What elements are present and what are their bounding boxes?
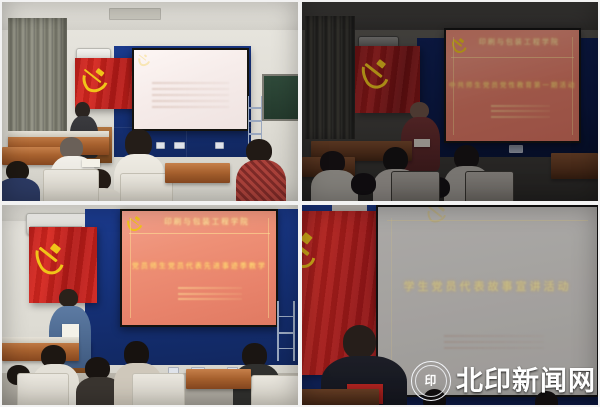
chalkboard (262, 74, 298, 122)
collage-panel-top-left (2, 2, 298, 201)
projection-screen-frame: 印刷与包装工程学院 中共师生党员党性教育第一期活动 (444, 28, 581, 143)
speaker-head (59, 289, 78, 307)
scene-top-right: 印刷与包装工程学院 中共师生党员党性教育第一期活动 (302, 2, 598, 201)
chair-back (132, 373, 184, 405)
projection-screen (134, 50, 246, 130)
hammer-sickle-emblem-icon (362, 55, 387, 86)
projection-screen-frame: 印刷与包装工程学院 党员师生党员代表先进事迹季教学 (120, 209, 278, 327)
front-desk (302, 389, 379, 405)
slide-subtitle: 中共师生党员党性教育第一期活动 (446, 79, 579, 89)
hammer-sickle-emblem-icon (302, 226, 313, 269)
slide-title: 印刷与包装工程学院 (446, 37, 579, 47)
audience-desk (165, 163, 230, 183)
speaker-head (343, 325, 377, 359)
window-curtain (8, 18, 67, 141)
desk-top (2, 337, 79, 343)
slide-party-emblem-icon (426, 207, 446, 220)
wall-seam (186, 127, 187, 157)
slide-divider (451, 57, 574, 58)
slide-body-lines (178, 284, 243, 304)
watermark-seal-text: 印 (425, 375, 437, 387)
projection-screen-frame (132, 48, 248, 132)
side-desk (551, 153, 598, 179)
slide-subtitle: 学生党员代表故事宣讲活动 (378, 278, 597, 294)
audience-head (351, 173, 376, 194)
slide-body-lines (152, 78, 229, 112)
ceiling-vent-icon (109, 8, 161, 20)
speech-paper (414, 139, 431, 146)
hammer-sickle-emblem-icon (35, 238, 61, 273)
slide-divider (387, 220, 589, 221)
handout-paper (82, 159, 100, 167)
chair-back (391, 171, 440, 201)
projection-screen: 印刷与包装工程学院 党员师生党员代表先进事迹季教学 (122, 211, 276, 325)
slide-divider (129, 233, 271, 234)
slide-subtitle: 党员师生党员代表先进事迹季教学 (122, 261, 276, 271)
slide-title: 印刷与包装工程学院 (122, 216, 276, 227)
wall-socket (174, 142, 185, 149)
site-watermark: 印 北印新闻网 (411, 361, 596, 401)
watermark-text: 北印新闻网 (456, 368, 596, 395)
chair-back (251, 375, 298, 405)
scene-top-left (2, 2, 298, 201)
audience-member (236, 139, 286, 201)
audience-member (340, 173, 387, 201)
collage-panel-bottom-left: 印刷与包装工程学院 党员师生党员代表先进事迹季教学 (2, 205, 298, 405)
photo-collage: 印刷与包装工程学院 中共师生党员党性教育第一期活动 (0, 0, 600, 407)
collage-panel-top-right: 印刷与包装工程学院 中共师生党员党性教育第一期活动 (302, 2, 598, 201)
window-curtain (305, 16, 355, 139)
audience-desk (186, 369, 251, 389)
slide-body-lines (444, 331, 545, 353)
chair-back (465, 171, 514, 201)
scene-bottom-left: 印刷与包装工程学院 党员师生党员代表先进事迹季教学 (2, 205, 298, 405)
audience-body (236, 160, 286, 201)
slide-party-emblem-icon (138, 53, 148, 63)
watermark-seal-icon: 印 (411, 361, 451, 401)
slide-body-lines (491, 101, 550, 121)
projection-screen: 印刷与包装工程学院 中共师生党员党性教育第一期活动 (446, 30, 579, 141)
wall-socket (509, 145, 523, 153)
chair-back (17, 373, 69, 405)
hammer-sickle-emblem-icon (81, 65, 106, 89)
audience-member (2, 161, 40, 201)
wall-socket (215, 142, 224, 149)
audience-body (2, 178, 40, 201)
chair-back (43, 169, 98, 201)
